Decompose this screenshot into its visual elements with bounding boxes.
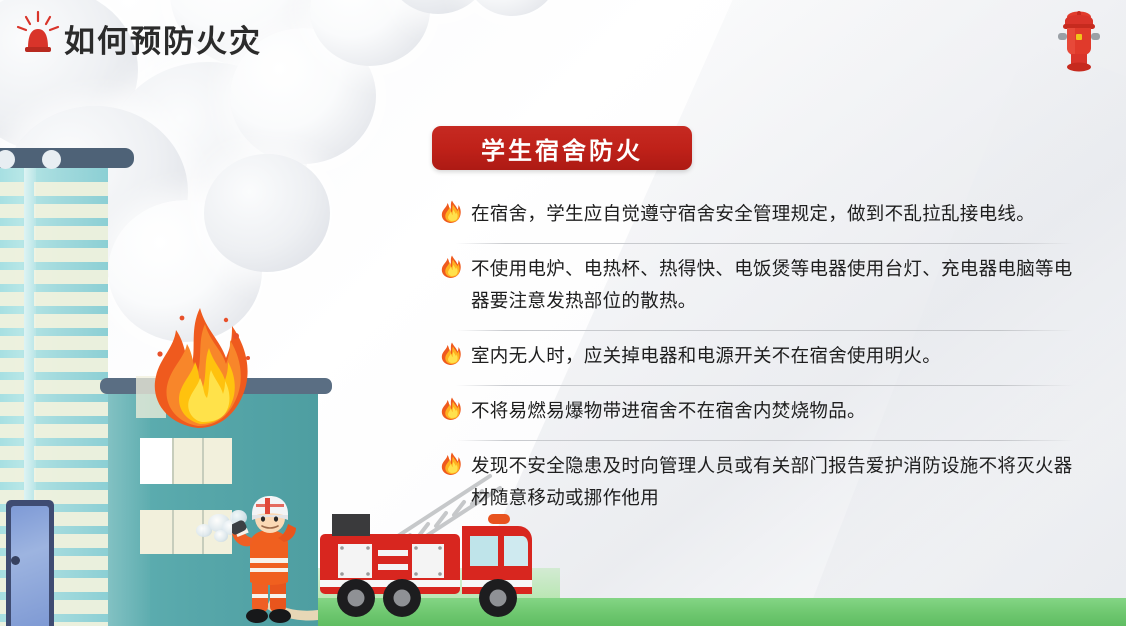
list-item-text: 室内无人时，应关掉电器和电源开关不在宿舍使用明火。 [471, 341, 941, 373]
tall-building-roof [0, 148, 134, 168]
list-item-text: 在宿舍，学生应自觉遵守宿舍安全管理规定，做到不乱拉乱接电线。 [471, 199, 1035, 231]
window [172, 438, 202, 484]
fire-hydrant-icon [1054, 8, 1104, 72]
safety-tips-list: 在宿舍，学生应自觉遵守宿舍安全管理规定，做到不乱拉乱接电线。 不使用电炉、电热杯… [432, 188, 1080, 527]
list-item-text: 发现不安全隐患及时向管理人员或有关部门报告爱护消防设施不将灭火器材随意移动或挪作… [471, 451, 1080, 515]
window-lit [140, 438, 172, 484]
window [140, 510, 172, 554]
flames [140, 300, 260, 430]
section-banner-label: 学生宿舍防火 [481, 131, 643, 166]
list-item: 发现不安全隐患及时向管理人员或有关部门报告爱护消防设施不将灭火器材随意移动或挪作… [432, 440, 1080, 527]
list-item: 在宿舍，学生应自觉遵守宿舍安全管理规定，做到不乱拉乱接电线。 [432, 188, 1080, 243]
door-handle [11, 556, 20, 565]
water-spray [214, 530, 228, 542]
list-item-text: 不使用电炉、电热杯、热得快、电饭煲等电器使用台灯、充电器电脑等电器要注意发热部位… [471, 254, 1080, 318]
fire-icon [440, 397, 462, 421]
fire-icon [440, 342, 462, 366]
list-item: 不将易燃易爆物带进宿舍不在宿舍内焚烧物品。 [432, 385, 1080, 440]
roof-knob-right [42, 150, 61, 169]
fire-icon [440, 452, 462, 476]
building-door-glass [11, 506, 49, 626]
fire-icon [440, 200, 462, 224]
list-item: 不使用电炉、电热杯、热得快、电饭煲等电器使用台灯、充电器电脑等电器要注意发热部位… [432, 243, 1080, 330]
list-item: 室内无人时，应关掉电器和电源开关不在宿舍使用明火。 [432, 330, 1080, 385]
firefighter-with-hose [232, 496, 318, 626]
list-item-text: 不将易燃易爆物带进宿舍不在宿舍内焚烧物品。 [471, 396, 866, 428]
slide-root: 如何预防火灾 学生宿舍防火 [0, 0, 1126, 626]
fire-icon [440, 255, 462, 279]
content-panel: 学生宿舍防火 在宿舍，学生应自觉遵守宿舍安全管理规定，做到不乱拉乱接电线。 [432, 126, 1092, 527]
page-title: 如何预防火灾 [64, 16, 262, 61]
alarm-beacon-icon [14, 10, 62, 56]
section-banner: 学生宿舍防火 [432, 126, 692, 170]
window [202, 438, 232, 484]
